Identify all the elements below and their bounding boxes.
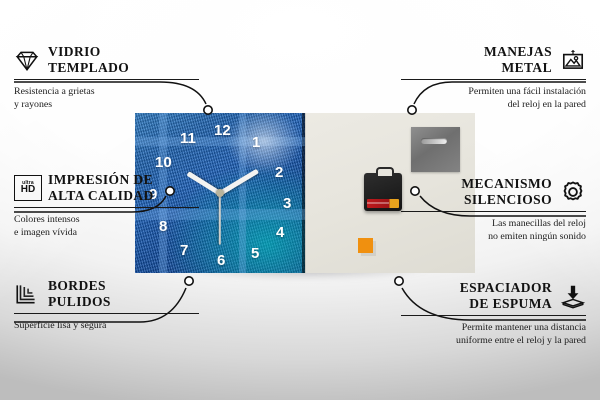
callout-description: Colores intensos e imagen vívida: [14, 213, 199, 240]
callout-divider: [14, 313, 199, 314]
callout-title: VIDRIO TEMPLADO: [48, 44, 129, 75]
clock-numeral-4: 4: [276, 225, 284, 240]
callout-divider: [14, 207, 199, 208]
callout-title: ESPACIADOR DE ESPUMA: [460, 280, 552, 311]
hanger-slot: [421, 138, 447, 144]
callout-divider: [401, 211, 586, 212]
callout-description: Superficie lisa y segura: [14, 319, 199, 332]
press-down-spacer-icon: [560, 283, 586, 309]
callout-silent-mechanism: MECANISMO SILENCIOSO Las manecillas del …: [401, 176, 586, 244]
metal-hanger-plate: [411, 127, 460, 172]
callout-divider: [401, 79, 586, 80]
callout-header: MANEJAS METAL: [401, 44, 586, 75]
infographic-canvas: 12 1 2 3 4 5 6 7 8 9 10 11: [0, 0, 600, 400]
callout-tempered-glass: VIDRIO TEMPLADO Resistencia a grietas y …: [14, 44, 199, 112]
callout-header: BORDES PULIDOS: [14, 278, 199, 309]
foam-spacer-square: [358, 238, 373, 253]
clock-numeral-6: 6: [217, 253, 225, 268]
callout-metal-handles: MANEJAS METAL Permiten una fácil instala…: [401, 44, 586, 112]
callout-title: IMPRESIÓN DE ALTA CALIDAD: [48, 172, 154, 203]
callout-header: VIDRIO TEMPLADO: [14, 44, 199, 75]
callout-divider: [401, 315, 586, 316]
diagonal-stripes-icon: [14, 281, 40, 307]
callout-description: Las manecillas del reloj no emiten ningú…: [401, 217, 586, 244]
callout-title: BORDES PULIDOS: [48, 278, 111, 309]
callout-title: MECANISMO SILENCIOSO: [461, 176, 552, 207]
callout-header: ESPACIADOR DE ESPUMA: [401, 280, 586, 311]
clock-numeral-10: 10: [155, 155, 172, 170]
callout-header: MECANISMO SILENCIOSO: [401, 176, 586, 207]
mechanism-shaft: [376, 167, 394, 176]
callout-hd-print: ultra HD IMPRESIÓN DE ALTA CALIDAD Color…: [14, 172, 199, 240]
clock-numeral-12: 12: [214, 123, 231, 138]
clock-numeral-11: 11: [180, 131, 196, 146]
callout-polished-edges: BORDES PULIDOS Superficie lisa y segura: [14, 278, 199, 332]
clock-numeral-2: 2: [275, 165, 283, 180]
callout-description: Permiten una fácil instalación del reloj…: [401, 85, 586, 112]
diamond-icon: [14, 47, 40, 73]
ultra-hd-icon: ultra HD: [14, 175, 40, 201]
clock-numeral-1: 1: [252, 135, 260, 150]
clock-center-cap: [216, 189, 224, 197]
clock-numeral-5: 5: [251, 246, 259, 261]
clock-second-hand: [219, 193, 221, 245]
battery-strip: [367, 199, 399, 208]
callout-title: MANEJAS METAL: [484, 44, 552, 75]
framed-picture-icon: [560, 47, 586, 73]
clock-numeral-3: 3: [283, 196, 291, 211]
clock-mechanism-box: [364, 173, 402, 211]
callout-divider: [14, 79, 199, 80]
clock-numeral-7: 7: [180, 243, 188, 258]
gear-icon: [560, 179, 586, 205]
callout-foam-spacer: ESPACIADOR DE ESPUMA Permite mantener un…: [401, 280, 586, 348]
callout-header: ultra HD IMPRESIÓN DE ALTA CALIDAD: [14, 172, 199, 203]
callout-description: Resistencia a grietas y rayones: [14, 85, 199, 112]
callout-description: Permite mantener una distancia uniforme …: [401, 321, 586, 348]
